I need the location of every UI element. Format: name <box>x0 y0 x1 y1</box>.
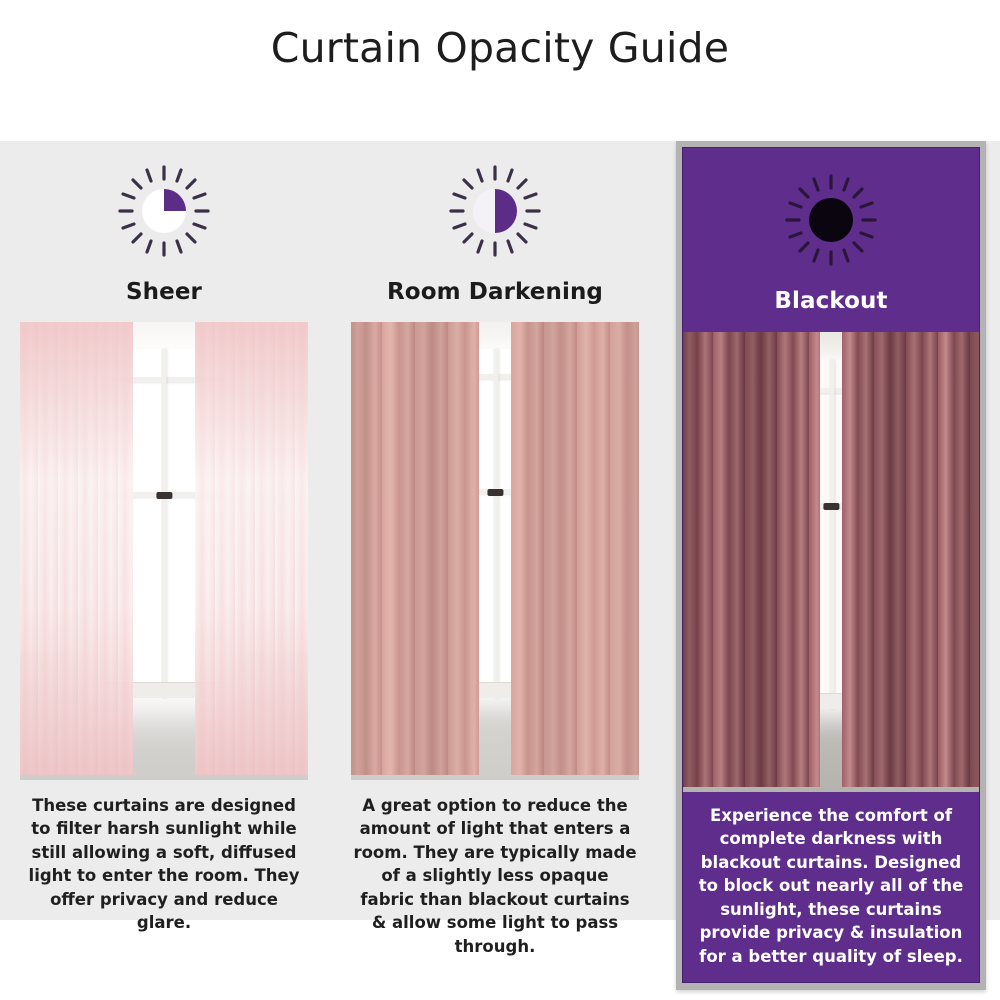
sheer-curtain-photo <box>20 322 308 780</box>
sun-fully-filled-icon <box>783 172 879 268</box>
opacity-label-blackout: Blackout <box>774 288 887 314</box>
curtain-panel-left <box>351 322 479 775</box>
opacity-label-room-darkening: Room Darkening <box>387 279 603 305</box>
curtain-panel-right <box>195 322 308 775</box>
room-darkening-curtain-photo <box>351 322 639 780</box>
blackout-card: Blackout Experience the co <box>682 147 980 983</box>
curtain-panel-right <box>842 332 979 787</box>
opacity-column-room-darkening[interactable]: Room Darkening A great option to reduce … <box>345 141 645 958</box>
description-room-darkening: A great option to reduce the amount of l… <box>351 794 639 958</box>
description-sheer: These curtains are designed to filter ha… <box>20 794 308 935</box>
curtain-panel-left <box>20 322 133 775</box>
curtain-panel-left <box>683 332 820 787</box>
blackout-card-frame: Blackout Experience the co <box>676 141 986 990</box>
curtain-panel-right <box>511 322 639 775</box>
description-blackout: Experience the comfort of complete darkn… <box>683 792 979 982</box>
sun-quarter-filled-icon <box>116 163 212 259</box>
curtain-opacity-guide-page: Curtain Opacity Guide <box>0 0 1000 1000</box>
opacity-label-sheer: Sheer <box>126 279 202 305</box>
opacity-columns: Sheer These curtains are designed to fil… <box>0 141 1000 951</box>
page-title: Curtain Opacity Guide <box>0 24 1000 72</box>
sun-half-filled-icon <box>447 163 543 259</box>
opacity-column-blackout[interactable]: Blackout Experience the co <box>676 141 986 990</box>
blackout-curtain-photo <box>683 332 979 792</box>
opacity-column-sheer[interactable]: Sheer These curtains are designed to fil… <box>14 141 314 935</box>
